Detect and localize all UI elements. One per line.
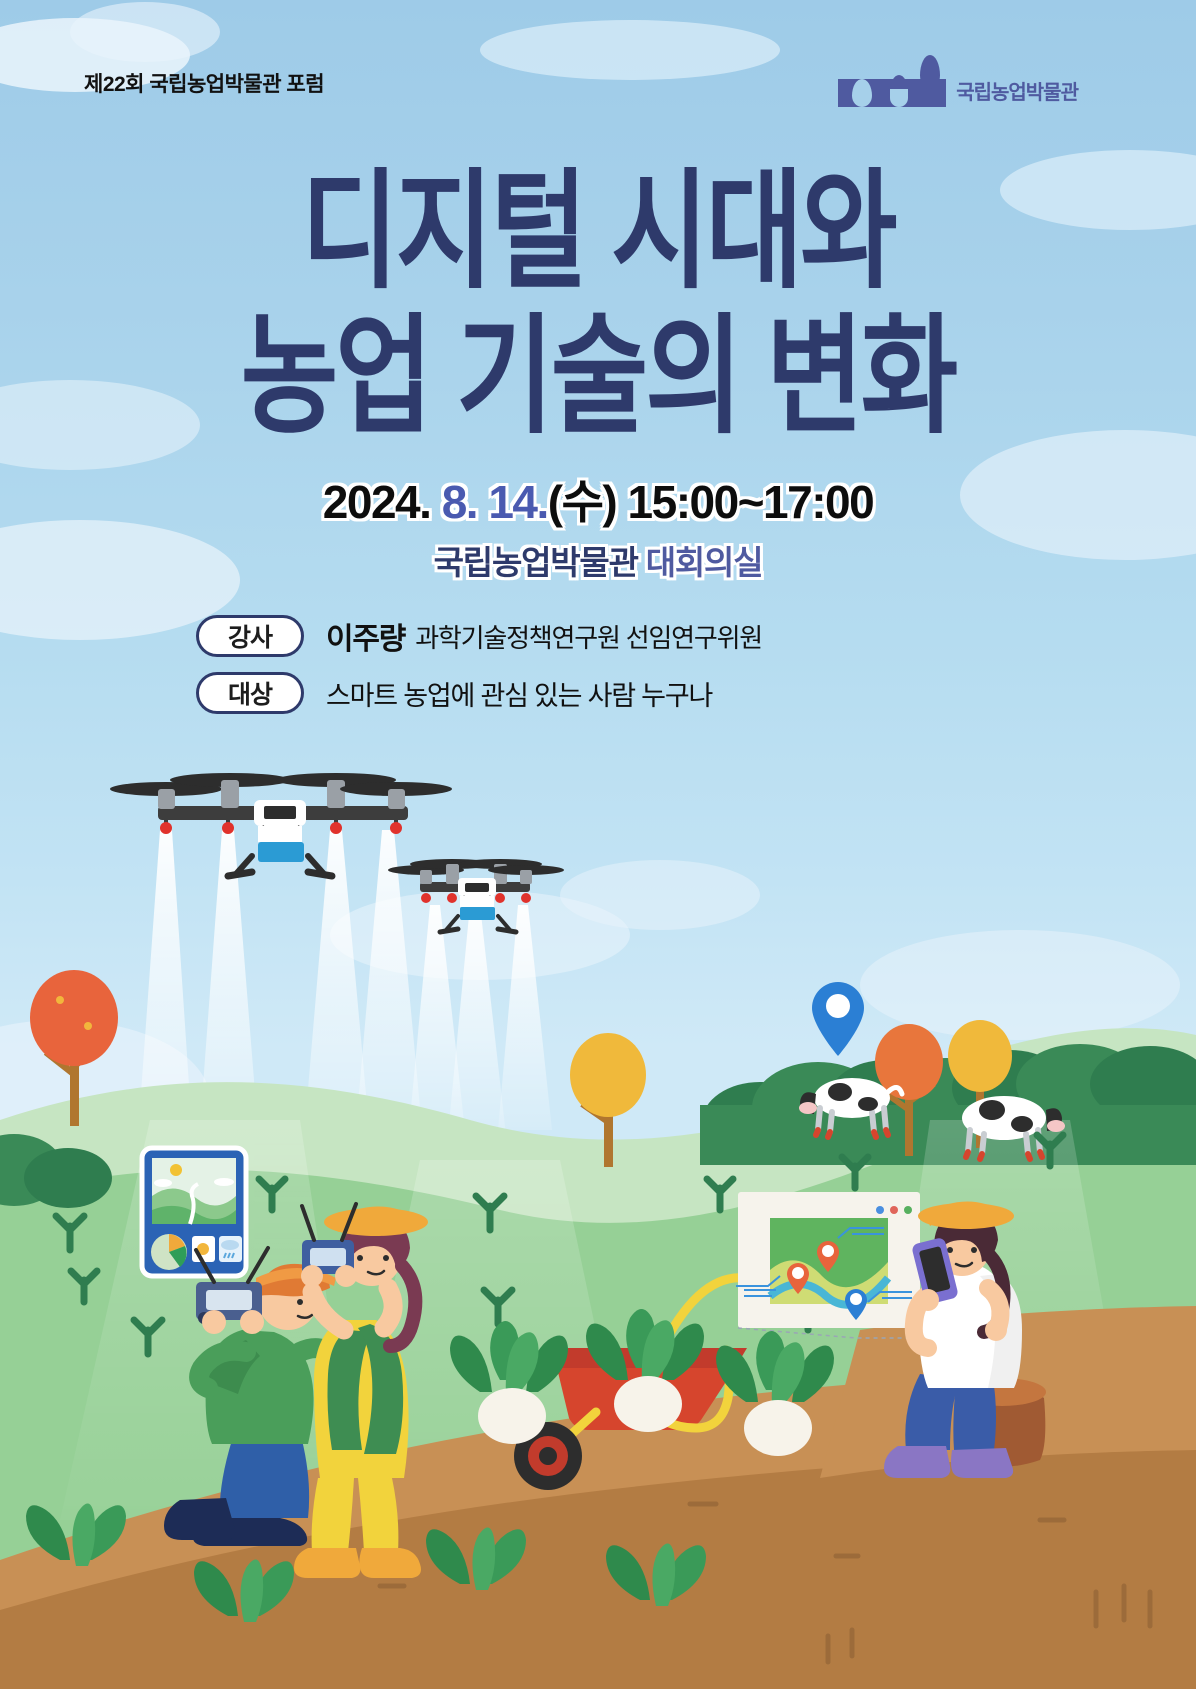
event-poster: 제22회 국립농업박물관 포럼 국립농업박물관 디지털 시대와 농업 기술의 변…	[0, 0, 1196, 1689]
drone-nozzle	[447, 893, 457, 903]
location-pin-icon	[812, 961, 864, 1056]
drone-nozzle	[390, 822, 402, 834]
drone-nozzle	[521, 893, 531, 903]
window-dot-green	[904, 1206, 912, 1214]
map-browser-card[interactable]	[736, 1192, 920, 1338]
drone-nozzle	[330, 822, 342, 834]
drone-nozzle	[222, 822, 234, 834]
smart-farm-illustration	[0, 0, 1196, 1689]
tablet-dashboard[interactable]	[142, 1148, 246, 1276]
drone-nozzle	[160, 822, 172, 834]
drone-nozzle	[421, 893, 431, 903]
window-dot-blue	[876, 1206, 884, 1214]
window-dot-red	[890, 1206, 898, 1214]
drone-nozzle	[495, 893, 505, 903]
